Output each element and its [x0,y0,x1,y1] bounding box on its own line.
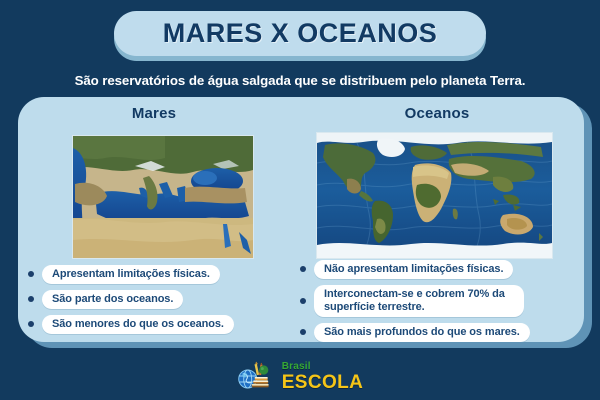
bullet-dot-icon [28,271,34,277]
bullet-list-mares: Apresentam limitações físicas. São parte… [28,265,282,340]
content-panel: Mares [18,97,584,342]
column-oceanos: Oceanos [290,97,584,342]
globe-and-books-icon [237,361,277,393]
column-heading-mares: Mares [18,105,290,122]
bullet-dot-icon [300,266,306,272]
logo-wordmark: Brasil ESCOLA [282,362,364,392]
bullet-dot-icon [300,298,306,304]
list-item: Apresentam limitações físicas. [28,265,282,284]
bullet-dot-icon [28,321,34,327]
list-item: Não apresentam limitações físicas. [300,260,576,279]
bullet-text: Não apresentam limitações físicas. [314,260,513,279]
bullet-list-oceanos: Não apresentam limitações físicas. Inter… [300,260,576,342]
list-item: São menores do que os oceanos. [28,315,282,334]
column-mares: Mares [18,97,290,342]
page-subtitle: São reservatórios de água salgada que se… [0,73,600,88]
bullet-text: Interconectam-se e cobrem 70% da superfí… [314,285,524,317]
bullet-dot-icon [300,329,306,335]
bullet-text: Apresentam limitações físicas. [42,265,220,284]
page-title: MARES X OCEANOS [163,18,438,49]
list-item: São mais profundos do que os mares. [300,323,576,342]
bullet-text: São mais profundos do que os mares. [314,323,530,342]
logo-brasil-text: Brasil [282,362,364,372]
column-heading-oceanos: Oceanos [290,105,584,122]
infographic-root: MARES X OCEANOS São reservatórios de águ… [0,0,600,400]
bullet-text: São menores do que os oceanos. [42,315,234,334]
list-item: São parte dos oceanos. [28,290,282,309]
world-satellite-map [316,132,553,259]
mediterranean-sea-satellite-map [72,135,254,259]
brasil-escola-logo: Brasil ESCOLA [237,361,364,393]
title-banner: MARES X OCEANOS [0,10,600,62]
title-pill: MARES X OCEANOS [114,11,486,56]
bullet-dot-icon [28,296,34,302]
bullet-text: São parte dos oceanos. [42,290,183,309]
logo-escola-text: ESCOLA [282,373,364,392]
list-item: Interconectam-se e cobrem 70% da superfí… [300,285,576,317]
